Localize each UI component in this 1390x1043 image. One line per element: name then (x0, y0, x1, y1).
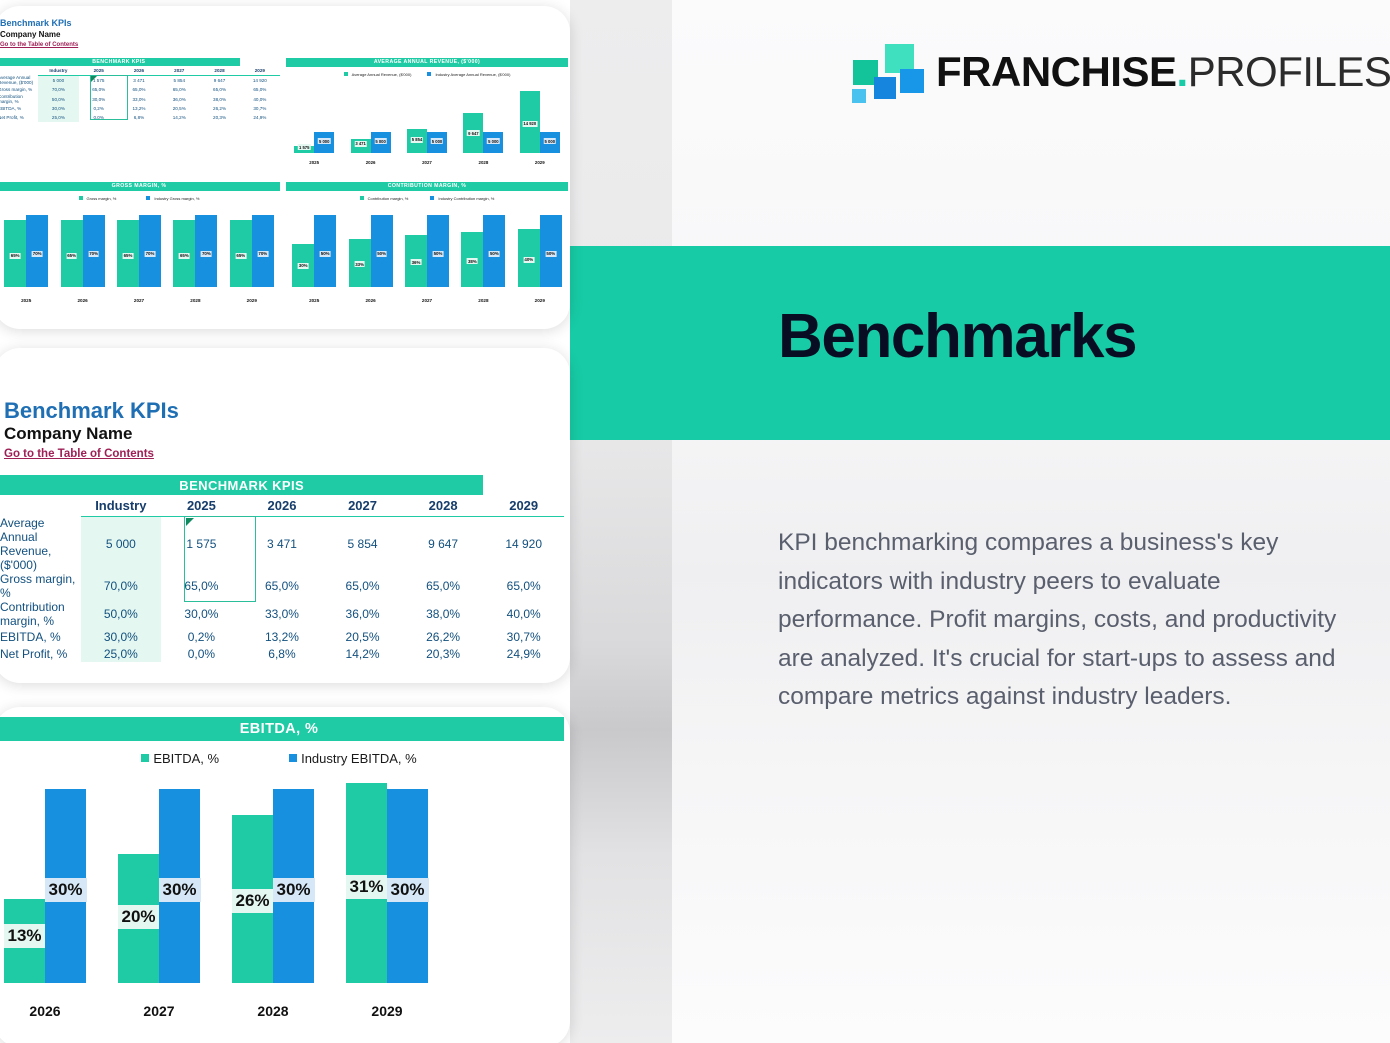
screenshot-card-kpi-table: Benchmark KPIs Company Name Go to the Ta… (0, 348, 570, 683)
bar: 13% (4, 899, 45, 983)
bar: 70% (195, 215, 217, 287)
bar-value-label: 70% (32, 251, 43, 257)
bar-value-label: 50% (545, 251, 556, 257)
bar-group: 33%50% (349, 215, 393, 287)
chart-title: EBITDA, % (0, 717, 564, 741)
kpi-header-row: Industry 2025 2026 2027 2028 2029 (0, 495, 564, 516)
legend-item: EBITDA, % (141, 751, 219, 766)
legend-item: Gross margin, % (79, 196, 117, 201)
kpi-table-large: BENCHMARK KPIS Industry 2025 2026 2027 2… (0, 475, 564, 662)
bar-value-label: 50% (433, 251, 444, 257)
bar-value-label: 26% (231, 889, 273, 913)
bar: 70% (83, 215, 105, 287)
bar: 1 575 (294, 146, 314, 153)
kpi-banner-label: BENCHMARK KPIS (0, 475, 483, 495)
x-axis-label: 2029 (371, 1003, 402, 1019)
bar-value-label: 3 471 (354, 141, 366, 147)
chart-plot-area: 0%30%202513%30%202620%30%202726%30%20283… (0, 769, 564, 1019)
bar-value-label: 70% (145, 251, 156, 257)
bar: 65% (230, 220, 252, 287)
bar: 50% (371, 215, 393, 287)
sheet-toc-link[interactable]: Go to the Table of Contents (4, 448, 154, 460)
kpi-banner-label: BENCHMARK KPIS (0, 58, 240, 66)
table-row: Average Annual Revenue, ($'000) 5 000 1 … (0, 516, 564, 572)
bar-value-label: 33% (354, 261, 365, 267)
bar: 14 920 (520, 91, 540, 153)
bar-value-label: 30% (158, 878, 200, 902)
logo-dot: . (1177, 48, 1188, 95)
legend-item: Industry Gross margin, % (146, 196, 199, 201)
bar: 30% (387, 789, 428, 983)
x-axis-label: 2025 (309, 160, 319, 165)
bar-value-label: 65% (179, 253, 190, 259)
chart-gross-margin-small: GROSS MARGIN, % Gross margin, % Industry… (0, 182, 280, 322)
kpi-col-2027: 2027 (322, 495, 403, 516)
kpi-header-row: Industry 2025 2026 2027 2028 2029 (0, 66, 280, 75)
sheet-company-small: Company Name (0, 30, 60, 39)
bar: 65% (4, 220, 26, 287)
x-axis-label: 2029 (535, 298, 545, 303)
bar-value-label: 65% (235, 253, 246, 259)
bar: 33% (349, 239, 371, 287)
bar: 31% (346, 783, 387, 983)
background-gray-strip (570, 0, 672, 1043)
bar-value-label: 1 575 (298, 144, 310, 150)
x-axis-label: 2028 (479, 160, 489, 165)
kpi-table-small: BENCHMARK KPIS Industry 2025 2026 2027 2… (0, 58, 280, 122)
brand-logo: FRANCHISE.PROFILES (852, 44, 1390, 100)
bar-value-label: 31% (345, 875, 387, 899)
kpi-col-2029: 2029 (240, 66, 280, 75)
bar: 26% (232, 815, 273, 983)
chart-plot-area: 65%70%202565%70%202665%70%202765%70%2028… (0, 203, 280, 303)
chart-plot-area: 30%50%202533%50%202636%50%202738%50%2028… (286, 203, 568, 303)
bar: 5 000 (540, 132, 560, 153)
bar-value-label: 50% (489, 251, 500, 257)
bar-value-label: 30% (386, 878, 428, 902)
kpi-col-2026: 2026 (119, 66, 159, 75)
bar: 30% (292, 244, 314, 287)
table-row: Gross margin, % 70,0% 65,0% 65,0% 65,0% … (0, 85, 280, 94)
legend-item: Average Annual Revenue, ($'000) (344, 72, 412, 77)
background-right-panel (672, 0, 1390, 1043)
logo-squares-icon (852, 44, 918, 100)
screenshot-card-ebitda-chart: EBITDA, % EBITDA, % Industry EBITDA, % 0… (0, 707, 570, 1043)
chart-contribution-margin-small: CONTRIBUTION MARGIN, % Contribution marg… (286, 182, 568, 322)
table-row: EBITDA, % 30,0% 0,2% 13,2% 20,5% 26,2% 3… (0, 104, 280, 113)
legend-item: Industry EBITDA, % (289, 751, 417, 766)
bar-value-label: 38% (467, 258, 478, 264)
kpi-col-2025: 2025 (161, 495, 242, 516)
sheet-heading: Benchmark KPIs (4, 398, 179, 424)
x-axis-label: 2029 (247, 298, 257, 303)
bar: 5 000 (314, 132, 334, 153)
bar-value-label: 5 000 (374, 138, 386, 144)
chart-plot-area: 1 5755 00020253 4715 00020265 8545 00020… (286, 79, 568, 165)
bar-group: 65%70% (230, 215, 274, 287)
bar: 5 000 (483, 132, 503, 153)
x-axis-label: 2027 (422, 298, 432, 303)
bar-value-label: 65% (10, 253, 21, 259)
sheet-company: Company Name (4, 424, 132, 444)
x-axis-label: 2029 (535, 160, 545, 165)
x-axis-label: 2026 (365, 298, 375, 303)
bar: 30% (273, 789, 314, 983)
bar-value-label: 70% (257, 251, 268, 257)
x-axis-label: 2027 (143, 1003, 174, 1019)
logo-word-primary: FRANCHISE (936, 48, 1177, 95)
bar: 65% (117, 220, 139, 287)
bar: 30% (45, 789, 86, 983)
legend-item: Industry Average Annual Revenue, ($'000) (427, 72, 510, 77)
table-row: Contribution margin, % 50,0% 30,0% 33,0%… (0, 600, 564, 628)
x-axis-label: 2026 (77, 298, 87, 303)
bar-group: 3 4715 000 (351, 91, 391, 153)
bar: 5 000 (427, 132, 447, 153)
kpi-col-2028: 2028 (403, 495, 484, 516)
x-axis-label: 2028 (190, 298, 200, 303)
bar-value-label: 5 000 (487, 138, 499, 144)
kpi-col-2028: 2028 (199, 66, 239, 75)
bar-value-label: 50% (376, 251, 387, 257)
table-row: Net Profit, % 25,0% 0,0% 6,8% 14,2% 20,3… (0, 113, 280, 122)
chart-title: AVERAGE ANNUAL REVENUE, ($'000) (286, 58, 568, 67)
x-axis-label: 2026 (366, 160, 376, 165)
bar-group: 30%50% (292, 215, 336, 287)
bar-value-label: 65% (66, 253, 77, 259)
bar-value-label: 70% (201, 251, 212, 257)
bar: 50% (314, 215, 336, 287)
bar-group: 40%50% (518, 215, 562, 287)
kpi-col-2025: 2025 (79, 66, 119, 75)
bar: 50% (427, 215, 449, 287)
kpi-col-industry: Industry (81, 495, 162, 516)
chart-ebitda: EBITDA, % EBITDA, % Industry EBITDA, % 0… (0, 717, 564, 1043)
bar-group: 65%70% (4, 215, 48, 287)
kpi-col-2026: 2026 (242, 495, 323, 516)
bar-value-label: 13% (3, 924, 45, 948)
bar-value-label: 40% (523, 257, 534, 263)
chart-title: CONTRIBUTION MARGIN, % (286, 182, 568, 191)
bar-value-label: 5 000 (318, 138, 330, 144)
table-row: Average Annual Revenue, ($'000) 5 000 1 … (0, 75, 280, 85)
bar: 5 854 (407, 129, 427, 153)
bar-group: 36%50% (405, 215, 449, 287)
bar-value-label: 50% (320, 251, 331, 257)
bar: 5 000 (371, 132, 391, 153)
bar-value-label: 5 854 (411, 137, 423, 143)
x-axis-label: 2028 (257, 1003, 288, 1019)
bar: 65% (173, 220, 195, 287)
bar: 70% (26, 215, 48, 287)
bar: 70% (252, 215, 274, 287)
description-paragraph: KPI benchmarking compares a business's k… (778, 524, 1358, 717)
bar: 3 471 (351, 139, 371, 153)
x-axis-label: 2026 (29, 1003, 60, 1019)
bar: 65% (61, 220, 83, 287)
bar-group: 65%70% (117, 215, 161, 287)
bar-value-label: 30% (298, 263, 309, 269)
screenshot-card-dashboard: Benchmark KPIs Company Name Go to the Ta… (0, 6, 570, 329)
bar: 30% (159, 789, 200, 983)
bar-value-label: 65% (123, 253, 134, 259)
sheet-heading-small: Benchmark KPIs (0, 18, 72, 28)
x-axis-label: 2025 (309, 298, 319, 303)
kpi-col-2027: 2027 (159, 66, 199, 75)
chart-title: GROSS MARGIN, % (0, 182, 280, 191)
bar-group: 1 5755 000 (294, 91, 334, 153)
table-row: Gross margin, % 70,0% 65,0% 65,0% 65,0% … (0, 572, 564, 600)
chart-average-annual-revenue-small: AVERAGE ANNUAL REVENUE, ($'000) Average … (286, 58, 568, 183)
table-row: EBITDA, % 30,0% 0,2% 13,2% 20,5% 26,2% 3… (0, 628, 564, 645)
bar: 38% (461, 232, 483, 287)
legend-item: Industry Contribution margin, % (430, 196, 494, 201)
bar: 36% (405, 235, 427, 287)
table-row: Net Profit, % 25,0% 0,0% 6,8% 14,2% 20,3… (0, 645, 564, 662)
bar-group: 26%30% (232, 783, 314, 983)
bar-group: 9 6475 000 (463, 91, 503, 153)
bar-value-label: 70% (88, 251, 99, 257)
bar: 70% (139, 215, 161, 287)
logo-wordmark: FRANCHISE.PROFILES (936, 51, 1390, 93)
bar-value-label: 9 647 (467, 130, 479, 136)
bar-group: 38%50% (461, 215, 505, 287)
kpi-table-banner-row: BENCHMARK KPIS (0, 58, 280, 66)
sheet-toc-link-small[interactable]: Go to the Table of Contents (0, 42, 78, 48)
bar-value-label: 30% (44, 878, 86, 902)
table-row: Contribution margin, % 50,0% 30,0% 33,0%… (0, 94, 280, 104)
page-title: Benchmarks (778, 306, 1136, 368)
bar: 50% (540, 215, 562, 287)
bar-group: 5 8545 000 (407, 91, 447, 153)
bar-value-label: 5 000 (544, 138, 556, 144)
kpi-col-industry: Industry (38, 66, 78, 75)
bar-group: 31%30% (346, 783, 428, 983)
bar-value-label: 5 000 (431, 138, 443, 144)
bar-group: 14 9205 000 (520, 91, 560, 153)
logo-word-secondary: PROFILES (1188, 48, 1390, 95)
bar-value-label: 20% (117, 905, 159, 929)
x-axis-label: 2027 (422, 160, 432, 165)
bar-group: 65%70% (61, 215, 105, 287)
bar-group: 13%30% (4, 783, 86, 983)
kpi-col-2029: 2029 (483, 495, 564, 516)
bar-group: 65%70% (173, 215, 217, 287)
x-axis-label: 2027 (134, 298, 144, 303)
bar-value-label: 14 920 (522, 121, 537, 127)
bar-value-label: 30% (272, 878, 314, 902)
bar: 9 647 (463, 113, 483, 153)
legend-item: Contribution margin, % (360, 196, 409, 201)
x-axis-label: 2028 (478, 298, 488, 303)
kpi-table-banner-row: BENCHMARK KPIS (0, 475, 564, 495)
x-axis-label: 2025 (21, 298, 31, 303)
bar: 40% (518, 229, 540, 287)
bar: 20% (118, 854, 159, 983)
slide-root: Benchmarks FRANCHISE.PROFILES KPI benchm… (0, 0, 1390, 1043)
bar-value-label: 36% (411, 259, 422, 265)
bar-group: 20%30% (118, 783, 200, 983)
bar: 50% (483, 215, 505, 287)
